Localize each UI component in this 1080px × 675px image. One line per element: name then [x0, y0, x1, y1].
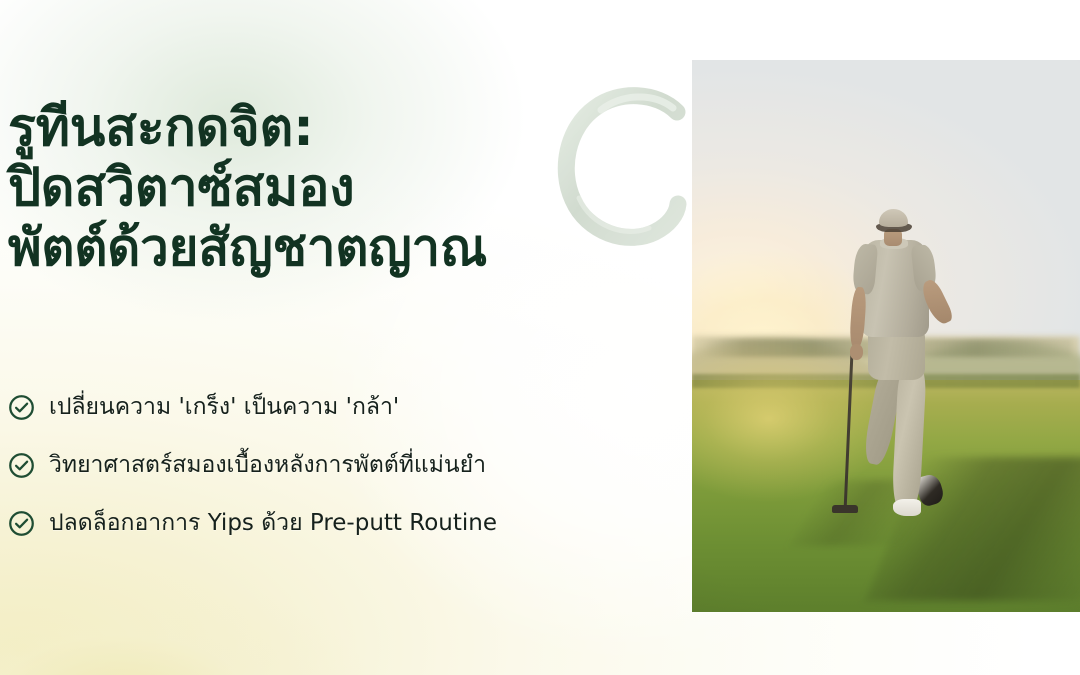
photo-golfer-front-shoe — [893, 499, 921, 516]
headline: รูทีนสะกดจิต: ปิดสวิตาซ์สมอง พัตต์ด้วยสั… — [8, 98, 668, 278]
check-circle-icon — [8, 510, 35, 537]
golfer-sunset-photo — [692, 60, 1080, 612]
headline-line-2: ปิดสวิตาซ์สมอง — [8, 158, 668, 218]
headline-line-3: พัตต์ด้วยสัญชาตญาณ — [8, 219, 668, 278]
photo-golfer-left-hand — [850, 344, 864, 361]
headline-line-1: รูทีนสะกดจิต: — [8, 98, 668, 158]
photo-golfer-left-arm — [849, 287, 867, 349]
photo-putter-head — [832, 505, 858, 513]
check-circle-icon — [8, 394, 35, 421]
photo-golfer-neck — [884, 229, 902, 246]
slide-canvas: รูทีนสะกดจิต: ปิดสวิตาซ์สมอง พัตต์ด้วยสั… — [0, 0, 1080, 675]
bullet-list: เปลี่ยนความ 'เกร็ง' เป็นความ 'กล้า' วิทย… — [8, 378, 656, 552]
list-item: ปลดล็อกอาการ Yips ด้วย Pre-putt Routine — [8, 494, 656, 552]
list-item: วิทยาศาสตร์สมองเบื้องหลังการพัตต์ที่แม่น… — [8, 436, 656, 494]
check-circle-icon — [8, 452, 35, 479]
list-item: เปลี่ยนความ 'เกร็ง' เป็นความ 'กล้า' — [8, 378, 656, 436]
bullet-text: วิทยาศาสตร์สมองเบื้องหลังการพัตต์ที่แม่น… — [49, 451, 486, 480]
photo-putter-shaft — [844, 353, 854, 511]
photo-golfer-cap — [879, 209, 908, 227]
photo-golfer — [692, 60, 1080, 612]
bullet-text: ปลดล็อกอาการ Yips ด้วย Pre-putt Routine — [49, 509, 497, 538]
bullet-text: เปลี่ยนความ 'เกร็ง' เป็นความ 'กล้า' — [49, 393, 399, 422]
